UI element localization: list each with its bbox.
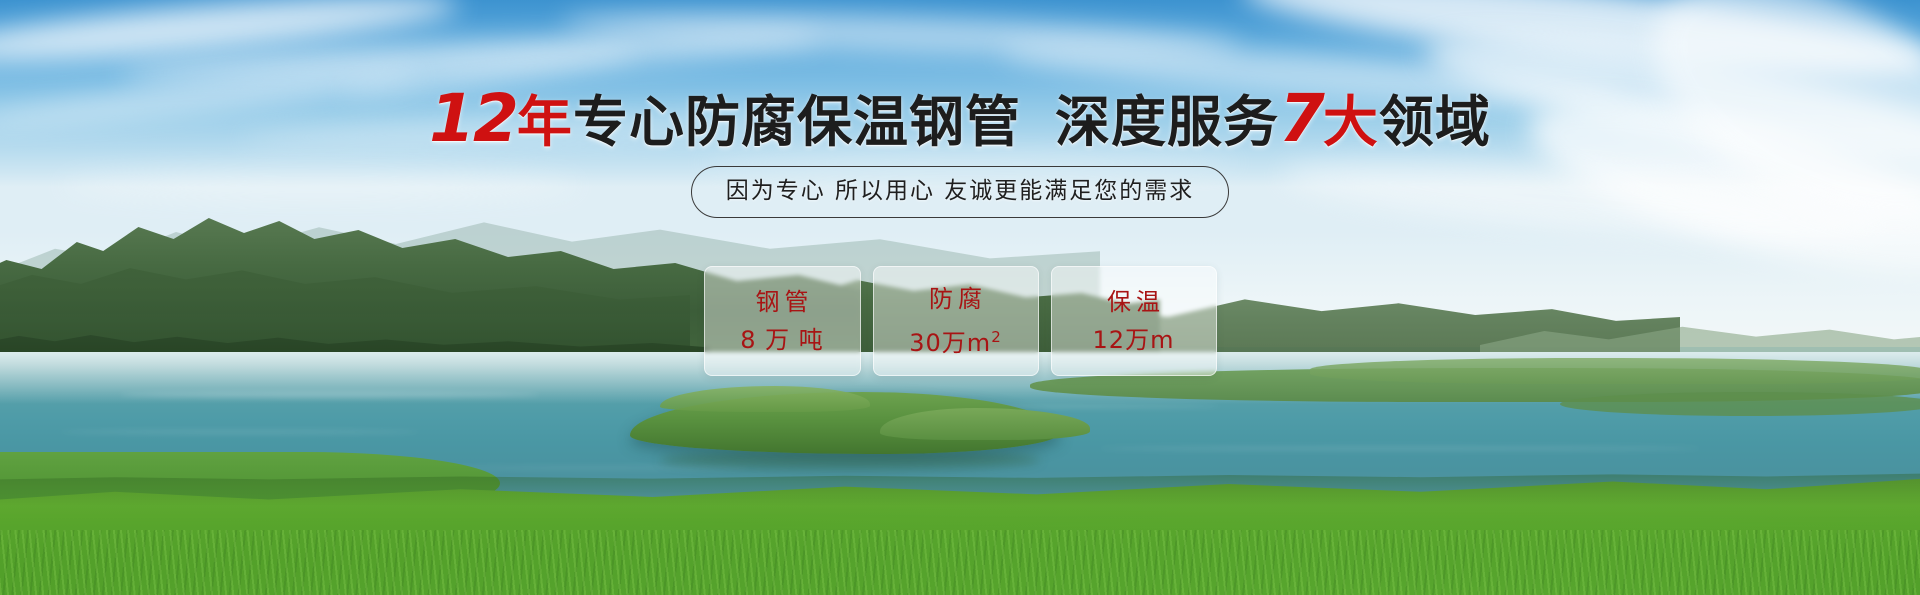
stat-card-title: 钢管 (751, 289, 814, 315)
headline-years-number: 12 (429, 80, 517, 157)
stat-card-list: 钢管 8 万 吨 防腐 30万m2 保温 12万m (0, 266, 1920, 376)
stat-card-value-exponent: 2 (991, 328, 1002, 346)
headline-fields-unit: 大 (1323, 90, 1379, 154)
banner-headline: 12年专心防腐保温钢管深度服务7大领域 (0, 86, 1920, 155)
stat-card-value: 8 万 吨 (740, 327, 824, 353)
stat-card-value-text: 12万m (1093, 326, 1175, 354)
stat-card-value-text: 30万m (909, 329, 991, 357)
stat-card-value: 30万m2 (909, 324, 1001, 356)
headline-fields-text: 领域 (1379, 90, 1491, 154)
stat-card-insulation[interactable]: 保温 12万m (1051, 266, 1217, 376)
banner-content: 12年专心防腐保温钢管深度服务7大领域 因为专心 所以用心 友诚更能满足您的需求… (0, 0, 1920, 595)
hero-banner: 12年专心防腐保温钢管深度服务7大领域 因为专心 所以用心 友诚更能满足您的需求… (0, 0, 1920, 595)
headline-service-text: 深度服务 (1055, 90, 1279, 154)
stat-card-steel-pipe[interactable]: 钢管 8 万 吨 (704, 266, 861, 376)
stat-card-anticorrosion[interactable]: 防腐 30万m2 (873, 266, 1039, 376)
stat-card-title: 防腐 (924, 286, 987, 312)
headline-main-text: 专心防腐保温钢管 (573, 90, 1021, 154)
stat-card-value-text: 8 万 吨 (740, 326, 824, 354)
headline-fields-number: 7 (1279, 80, 1323, 157)
stat-card-title: 保温 (1102, 289, 1165, 315)
stat-card-value: 12万m (1093, 327, 1175, 353)
banner-subtitle-wrap: 因为专心 所以用心 友诚更能满足您的需求 (0, 166, 1920, 218)
headline-years-unit: 年 (517, 90, 573, 154)
banner-subtitle-pill: 因为专心 所以用心 友诚更能满足您的需求 (691, 166, 1230, 218)
